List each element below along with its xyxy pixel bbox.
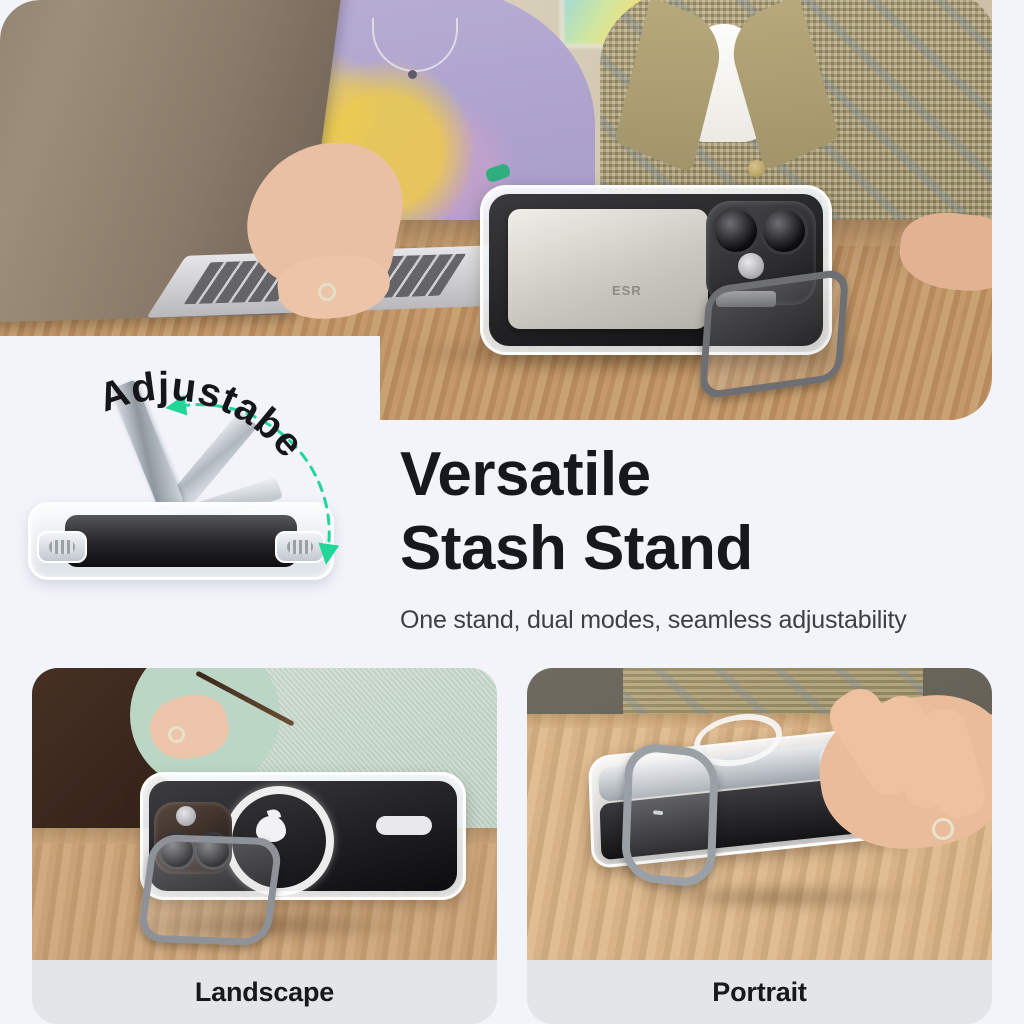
accent-pill xyxy=(376,816,432,835)
product-feature-page: ESR xyxy=(0,0,1024,1024)
esr-brand-logo: ESR xyxy=(612,283,642,298)
page-subtitle: One stand, dual modes, seamless adjustab… xyxy=(400,604,1000,636)
landscape-caption-band: Landscape xyxy=(32,960,497,1024)
hero-phone-case: ESR xyxy=(480,185,832,355)
woman-ring xyxy=(318,283,336,301)
adjustable-arc-group: Adjustabe xyxy=(10,360,380,610)
landscape-photo xyxy=(32,668,497,960)
kickstand-loop xyxy=(621,741,719,889)
phone-shadow xyxy=(627,882,927,912)
portrait-photo xyxy=(527,668,992,960)
headline-line-1: Versatile xyxy=(400,438,1000,512)
landscape-caption-text: Landscape xyxy=(195,977,334,1008)
landscape-mode-card: Landscape xyxy=(32,668,497,1024)
camera-lens-1 xyxy=(712,207,760,255)
adjustable-arc-label: Adjustabe xyxy=(93,364,312,466)
camera-lens-3 xyxy=(176,806,196,826)
camera-lens-3 xyxy=(738,253,764,279)
kickstand-loop xyxy=(699,268,849,400)
page-title: Versatile Stash Stand xyxy=(400,438,1000,586)
kickstand-loop xyxy=(136,834,283,946)
cardigan-button xyxy=(748,160,765,177)
lifestyle-hero-photo: ESR xyxy=(0,0,992,420)
adjustable-stand-illustration: Adjustabe xyxy=(10,360,380,610)
portrait-caption-text: Portrait xyxy=(712,977,806,1008)
finger-ring xyxy=(168,726,185,743)
camera-lens-2 xyxy=(760,207,808,255)
landscape-phone-case xyxy=(140,772,466,900)
portrait-mode-card: Portrait xyxy=(527,668,992,1024)
finger-ring xyxy=(932,818,954,840)
necklace-pendant xyxy=(408,70,417,79)
portrait-caption-band: Portrait xyxy=(527,960,992,1024)
headline-line-2: Stash Stand xyxy=(400,512,1000,586)
magsafe-power-bank: ESR xyxy=(508,209,708,329)
